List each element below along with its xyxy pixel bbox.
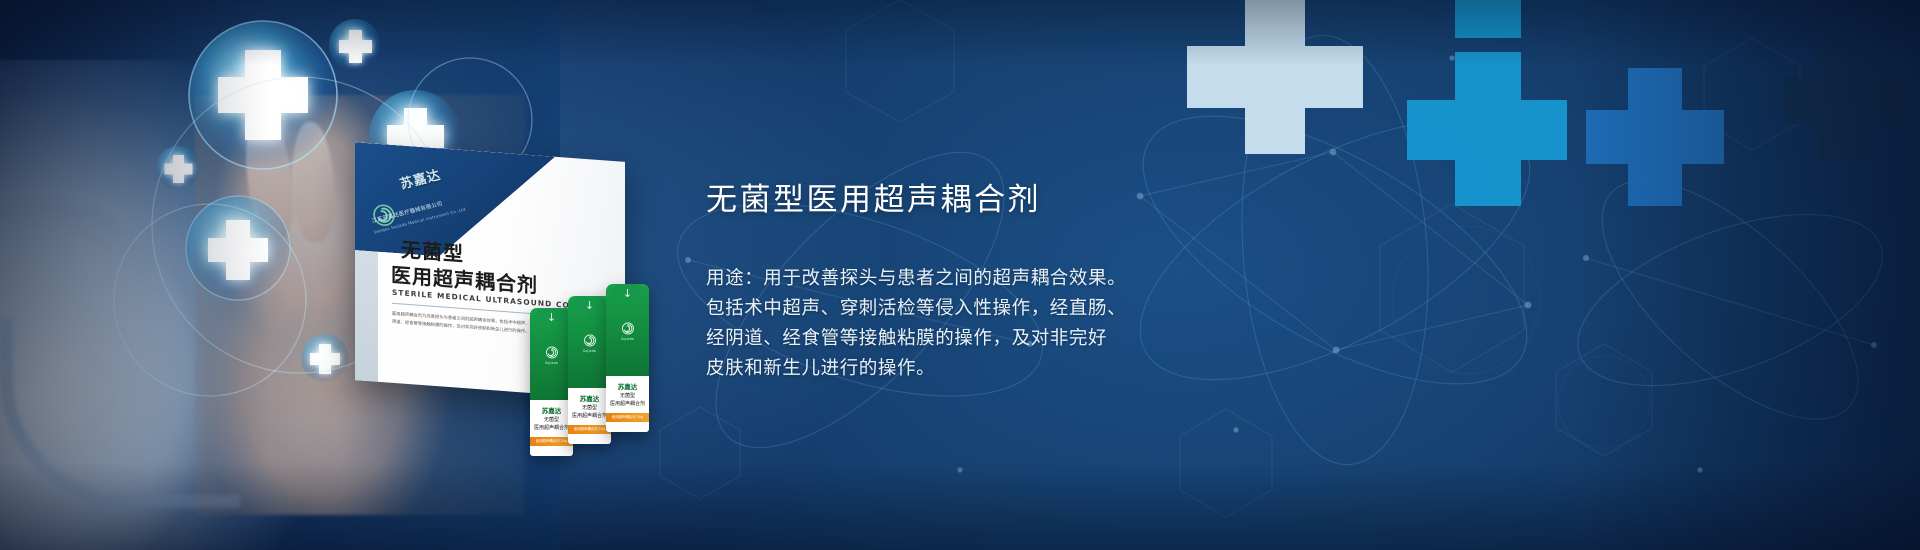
product-banner: 苏嘉达 江苏苏嘉达医疗器械有限公司 Jiangsu Sujiada Medica… bbox=[0, 0, 1920, 550]
edge-vignette bbox=[0, 0, 1920, 550]
